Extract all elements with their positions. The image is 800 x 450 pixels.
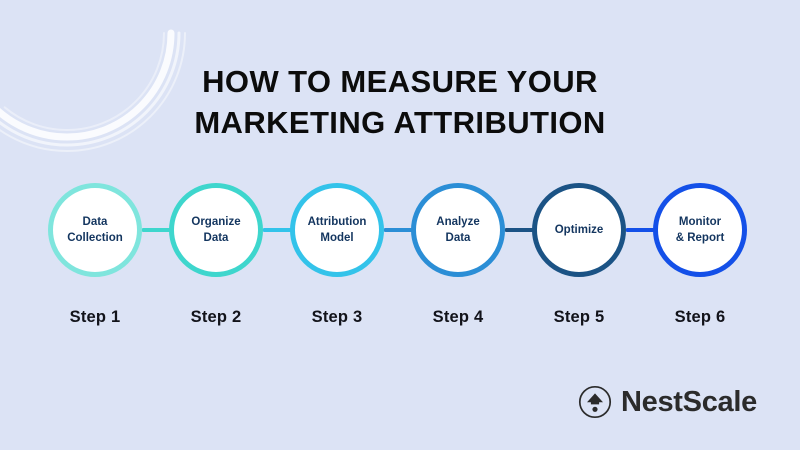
process-flow: Data Collection Organize Data Attributio…: [0, 183, 800, 280]
step-caption-5: Step 5: [519, 308, 639, 327]
flow-node-label: Analyze Data: [430, 214, 485, 247]
flow-node-step-6[interactable]: Monitor & Report: [653, 183, 747, 277]
flow-node-label-line-1: Monitor: [676, 214, 725, 230]
corner-arc-bottom-right-icon: [500, 270, 800, 450]
page-title-line-1: HOW TO MEASURE YOUR: [0, 62, 800, 103]
brand-logo: NestScale: [578, 382, 757, 422]
flow-node-label: Optimize: [549, 222, 610, 238]
flow-node-step-1[interactable]: Data Collection: [48, 183, 142, 277]
flow-node-label: Data Collection: [61, 214, 129, 247]
step-caption-1: Step 1: [35, 308, 155, 327]
brand-name: NestScale: [621, 386, 757, 419]
page-title: HOW TO MEASURE YOUR MARKETING ATTRIBUTIO…: [0, 62, 800, 144]
nestscale-arrow-mark-icon: [578, 385, 612, 419]
flow-node-label-line-1: Analyze: [436, 214, 479, 230]
page-title-line-2: MARKETING ATTRIBUTION: [0, 103, 800, 144]
flow-node-label-line-1: Data: [67, 214, 123, 230]
step-captions: Step 1 Step 2 Step 3 Step 4 Step 5 Step …: [0, 308, 800, 334]
flow-node-label: Organize Data: [185, 214, 246, 247]
step-caption-6: Step 6: [640, 308, 760, 327]
flow-node-step-5[interactable]: Optimize: [532, 183, 626, 277]
flow-node-label-line-1: Attribution: [308, 214, 367, 230]
step-caption-4: Step 4: [398, 308, 518, 327]
flow-node-label-line-2: Model: [308, 230, 367, 246]
flow-node-label-line-2: Collection: [67, 230, 123, 246]
flow-node-label-line-2: Data: [436, 230, 479, 246]
flow-node-label: Monitor & Report: [670, 214, 731, 247]
flow-node-step-4[interactable]: Analyze Data: [411, 183, 505, 277]
step-caption-2: Step 2: [156, 308, 276, 327]
flow-node-label-line-1: Optimize: [555, 222, 604, 238]
flow-node-step-3[interactable]: Attribution Model: [290, 183, 384, 277]
flow-node-step-2[interactable]: Organize Data: [169, 183, 263, 277]
step-caption-3: Step 3: [277, 308, 397, 327]
infographic-canvas: HOW TO MEASURE YOUR MARKETING ATTRIBUTIO…: [0, 0, 800, 450]
flow-node-label-line-2: Data: [191, 230, 240, 246]
flow-node-label-line-2: & Report: [676, 230, 725, 246]
flow-node-label: Attribution Model: [302, 214, 373, 247]
flow-node-label-line-1: Organize: [191, 214, 240, 230]
